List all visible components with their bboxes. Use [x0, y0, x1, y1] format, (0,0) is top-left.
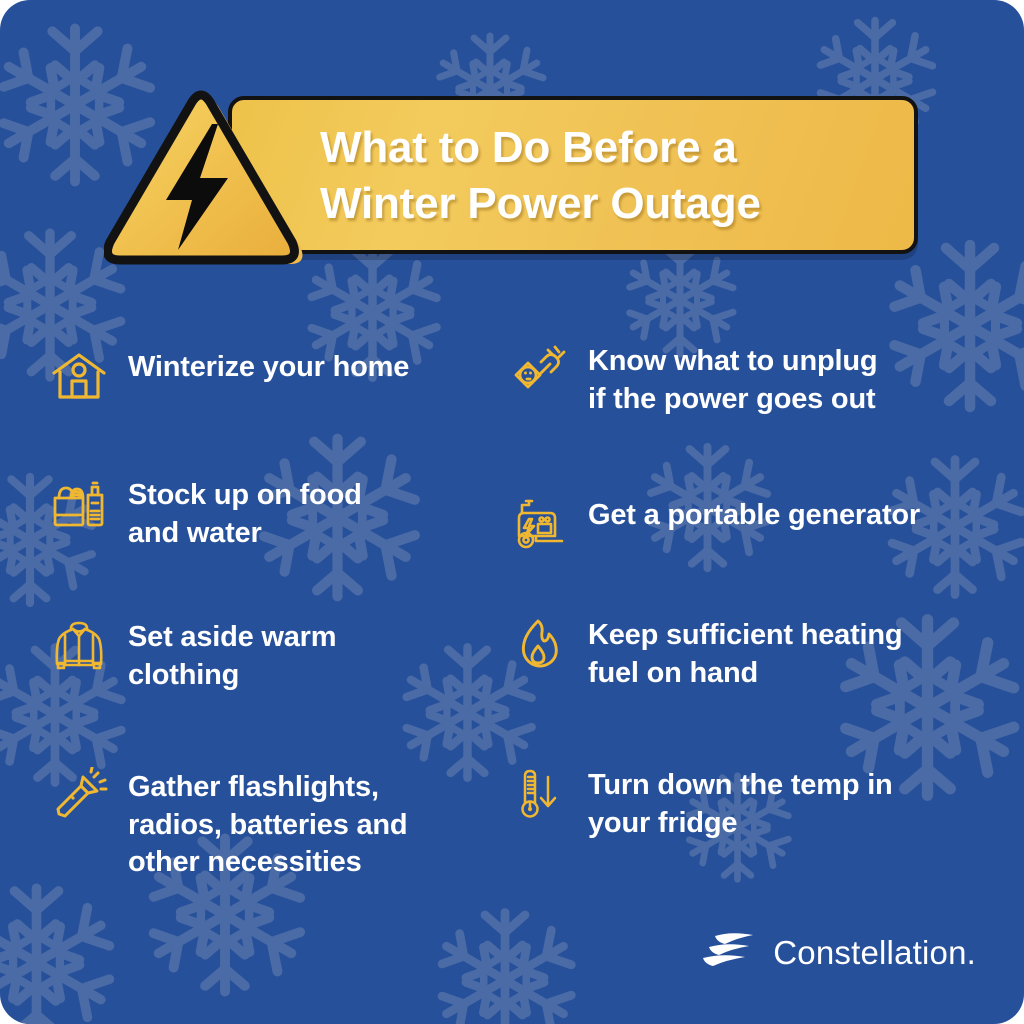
list-item-winterize-home[interactable]: Winterize your home	[48, 345, 409, 407]
list-item-flashlights-radios[interactable]: Gather flashlights, radios, batteries an…	[48, 765, 407, 882]
list-item-warm-clothing[interactable]: Set aside warm clothing	[48, 615, 336, 694]
plug-outlet-icon	[508, 339, 570, 401]
constellation-logo: Constellation.	[703, 932, 976, 972]
list-item-label: Turn down the temp in your fridge	[588, 763, 893, 842]
list-item-label: Get a portable generator	[588, 493, 920, 535]
portable-generator-icon	[508, 493, 570, 555]
brand-name: Constellation.	[773, 936, 976, 969]
list-item-label: Winterize your home	[128, 345, 409, 387]
list-item-label: Set aside warm clothing	[128, 615, 336, 694]
flashlight-icon	[48, 765, 110, 827]
list-item-know-what-to-unplug[interactable]: Know what to unplug if the power goes ou…	[508, 339, 877, 418]
list-item-portable-generator[interactable]: Get a portable generator	[508, 493, 920, 555]
title-banner: What to Do Before a Winter Power Outage	[228, 96, 918, 254]
flame-fuel-icon	[508, 613, 570, 675]
list-item-heating-fuel[interactable]: Keep sufficient heating fuel on hand	[508, 613, 902, 692]
list-item-label: Know what to unplug if the power goes ou…	[588, 339, 877, 418]
house-icon	[48, 345, 110, 407]
list-item-stock-food-water[interactable]: Stock up on food and water	[48, 473, 362, 552]
header: What to Do Before a Winter Power Outage	[0, 88, 1024, 268]
list-item-label: Keep sufficient heating fuel on hand	[588, 613, 902, 692]
list-item-label: Gather flashlights, radios, batteries an…	[128, 765, 407, 882]
page-title: What to Do Before a Winter Power Outage	[320, 120, 900, 233]
thermometer-down-arrow-icon	[508, 763, 570, 825]
winter-jacket-icon	[48, 615, 110, 677]
infographic-poster: What to Do Before a Winter Power Outage	[0, 0, 1024, 1024]
constellation-swoosh-icon	[703, 932, 757, 972]
grocery-bag-water-bottle-icon	[48, 473, 110, 535]
page-title-line-1: What to Do Before a	[320, 120, 900, 176]
page-title-line-2: Winter Power Outage	[320, 176, 900, 232]
list-item-turn-down-fridge-temp[interactable]: Turn down the temp in your fridge	[508, 763, 893, 842]
snowflake-icon	[0, 880, 119, 1024]
snowflake-icon	[430, 905, 580, 1024]
list-item-label: Stock up on food and water	[128, 473, 362, 552]
warning-lightning-triangle-icon	[104, 88, 314, 278]
